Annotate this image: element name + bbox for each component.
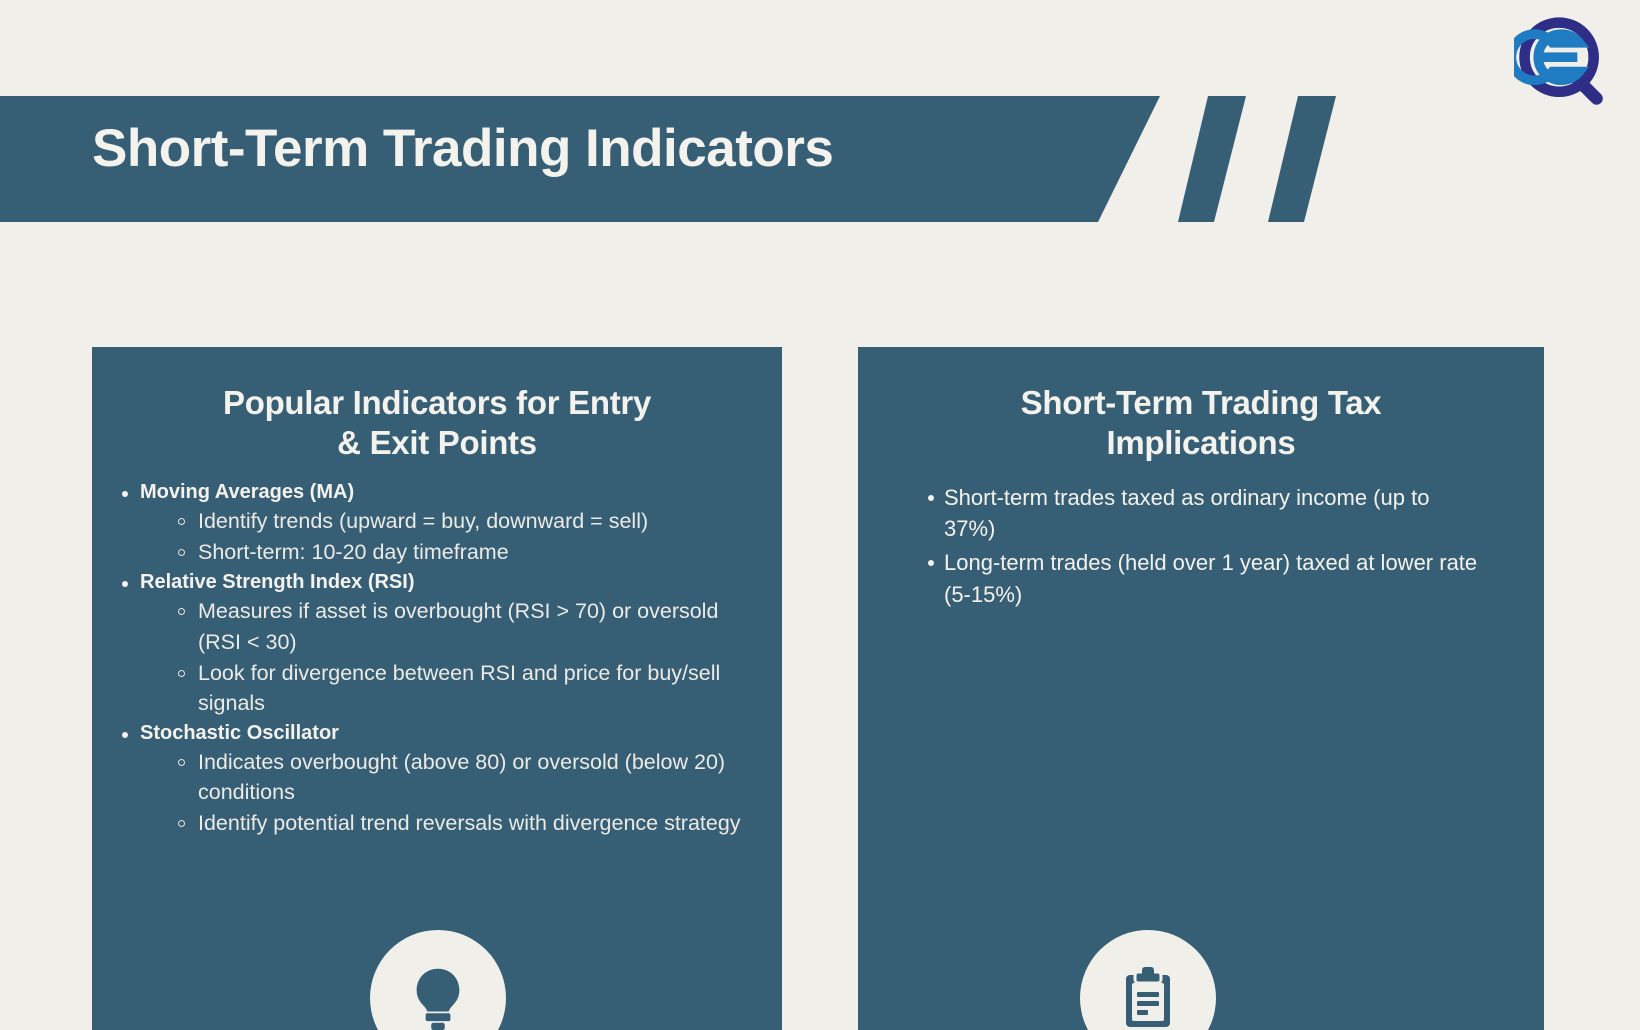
sub-list-item: Indicates overbought (above 80) or overs…	[176, 747, 762, 807]
list-item: Short-term trades taxed as ordinary inco…	[920, 482, 1486, 546]
tax-list: Short-term trades taxed as ordinary inco…	[858, 482, 1544, 612]
header-stripe-1	[1178, 96, 1246, 222]
indicator-list: Moving Averages (MA) Identify trends (up…	[92, 478, 782, 839]
list-item: Long-term trades (held over 1 year) taxe…	[920, 547, 1486, 611]
bullet-label: Short-term trades taxed as ordinary inco…	[944, 482, 1486, 546]
clipboard-icon-badge	[1080, 930, 1216, 1030]
sub-list-item: Short-term: 10-20 day timeframe	[176, 537, 762, 567]
card-right-title-line1: Short-Term Trading Tax	[1021, 384, 1382, 421]
card-left-title-line1: Popular Indicators for Entry	[223, 384, 651, 421]
sub-list: Measures if asset is overbought (RSI > 7…	[140, 596, 762, 717]
sub-list: Identify trends (upward = buy, downward …	[140, 506, 762, 567]
card-left-title-line2: & Exit Points	[337, 424, 537, 461]
card-left-title: Popular Indicators for Entry & Exit Poin…	[92, 347, 782, 464]
bullet-label: Long-term trades (held over 1 year) taxe…	[944, 547, 1486, 611]
sq-magnifier-logo-icon	[1514, 14, 1610, 110]
sub-list-item: Look for divergence between RSI and pric…	[176, 658, 762, 718]
list-item: Moving Averages (MA) Identify trends (up…	[114, 478, 762, 568]
clipboard-icon	[1116, 966, 1180, 1030]
header-stripe-2	[1268, 96, 1336, 222]
page-title: Short-Term Trading Indicators	[92, 118, 833, 179]
card-tax-implications: Short-Term Trading Tax Implications Shor…	[858, 347, 1544, 1030]
lightbulb-icon	[402, 962, 474, 1030]
lightbulb-icon-badge	[370, 930, 506, 1030]
card-right-title-line2: Implications	[1107, 424, 1296, 461]
sub-list-item: Identify trends (upward = buy, downward …	[176, 506, 762, 536]
sub-list: Indicates overbought (above 80) or overs…	[140, 747, 762, 838]
card-popular-indicators: Popular Indicators for Entry & Exit Poin…	[92, 347, 782, 1030]
bullet-label: Moving Averages (MA)	[140, 478, 762, 506]
list-item: Relative Strength Index (RSI) Measures i…	[114, 568, 762, 718]
card-right-title: Short-Term Trading Tax Implications	[858, 347, 1544, 464]
bullet-label: Relative Strength Index (RSI)	[140, 568, 762, 596]
bullet-label: Stochastic Oscillator	[140, 719, 762, 747]
list-item: Stochastic Oscillator Indicates overboug…	[114, 719, 762, 839]
sub-list-item: Measures if asset is overbought (RSI > 7…	[176, 596, 762, 656]
sub-list-item: Identify potential trend reversals with …	[176, 808, 762, 838]
